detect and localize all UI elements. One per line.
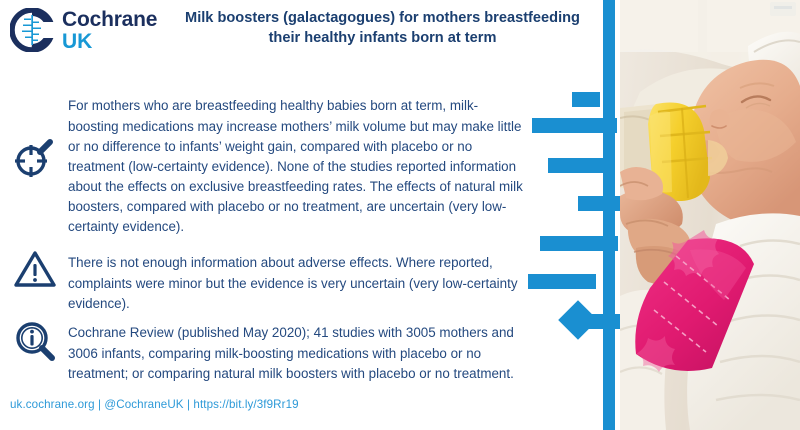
cochrane-logo-wordmark: Cochrane UK [62, 9, 157, 52]
magnifier-info-icon [9, 320, 61, 362]
key-message-text: For mothers who are breastfeeding health… [68, 96, 528, 237]
newborn-bottle-feeding-photo [620, 0, 800, 430]
forest-plot-diamond [558, 300, 598, 340]
forest-plot-bar [528, 274, 596, 289]
cochrane-logo-icon [10, 8, 54, 52]
review-details-text: Cochrane Review (published May 2020); 41… [68, 323, 528, 383]
forest-plot-bar [548, 158, 606, 173]
logo-text-uk: UK [62, 31, 157, 52]
forest-plot-bar [578, 196, 620, 211]
forest-plot-axis [603, 0, 615, 430]
target-crosshair-icon [9, 136, 61, 178]
adverse-effects-text: There is not enough information about ad… [68, 253, 528, 313]
logo-text-cochrane: Cochrane [62, 9, 157, 30]
cochrane-uk-logo[interactable]: Cochrane UK [10, 8, 157, 52]
footer-links[interactable]: uk.cochrane.org | @CochraneUK | https://… [10, 398, 299, 411]
infographic-root: Cochrane UK Milk boosters (galactagogues… [0, 0, 800, 430]
forest-plot-bar [532, 118, 617, 133]
forest-plot-bar [572, 92, 600, 107]
warning-triangle-icon [9, 250, 61, 288]
forest-plot-bar [540, 236, 618, 251]
decorative-forest-plot [528, 0, 620, 430]
